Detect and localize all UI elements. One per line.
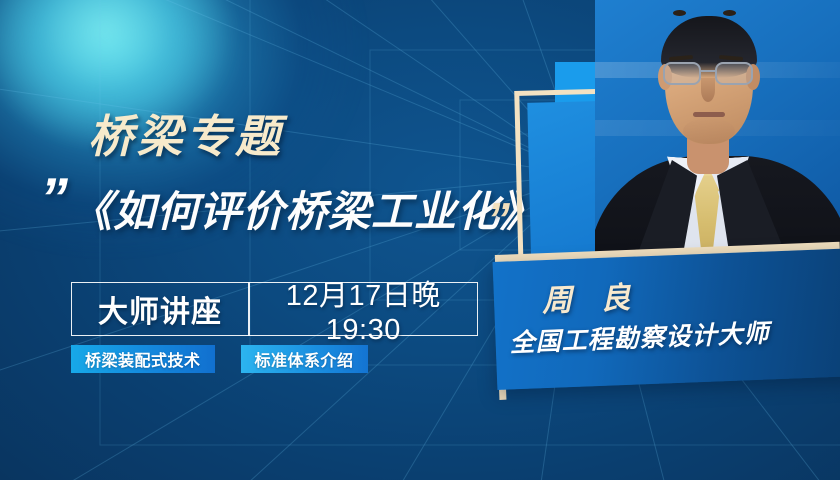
glasses-lens-left: [663, 62, 701, 85]
portrait-mouth: [693, 112, 725, 117]
speaker-portrait-photo: [595, 0, 840, 268]
topic-tag-2: 标准体系介绍: [241, 345, 368, 373]
lecture-info-bar: 大师讲座 12月17日晚19:30: [71, 282, 478, 336]
portrait-nose: [701, 78, 715, 102]
speaker-composition: [495, 0, 840, 480]
topic-tag-list: 桥梁装配式技术 标准体系介绍: [71, 345, 368, 373]
speaker-name-panel: 周 良 全国工程勘察设计大师: [493, 248, 840, 390]
poster-subtitle: 《如何评价桥梁工业化》: [70, 178, 543, 239]
promo-poster: 桥梁专题 ” 《如何评价桥梁工业化》 ” 大师讲座 12月17日晚19:30 桥…: [0, 0, 840, 480]
portrait-chin: [683, 118, 735, 144]
lecture-datetime: 12月17日晚19:30: [250, 272, 477, 347]
glasses-lens-right: [715, 62, 753, 85]
lecture-type-label: 大师讲座: [72, 287, 248, 331]
topic-tag-1: 桥梁装配式技术: [71, 345, 215, 373]
portrait-eye-left: [673, 10, 686, 16]
portrait-eye-right: [723, 10, 736, 16]
poster-main-title: 桥梁专题: [88, 100, 284, 165]
open-quote-mark: ”: [40, 170, 64, 226]
speaker-name-inner: 周 良 全国工程勘察设计大师: [493, 248, 840, 390]
